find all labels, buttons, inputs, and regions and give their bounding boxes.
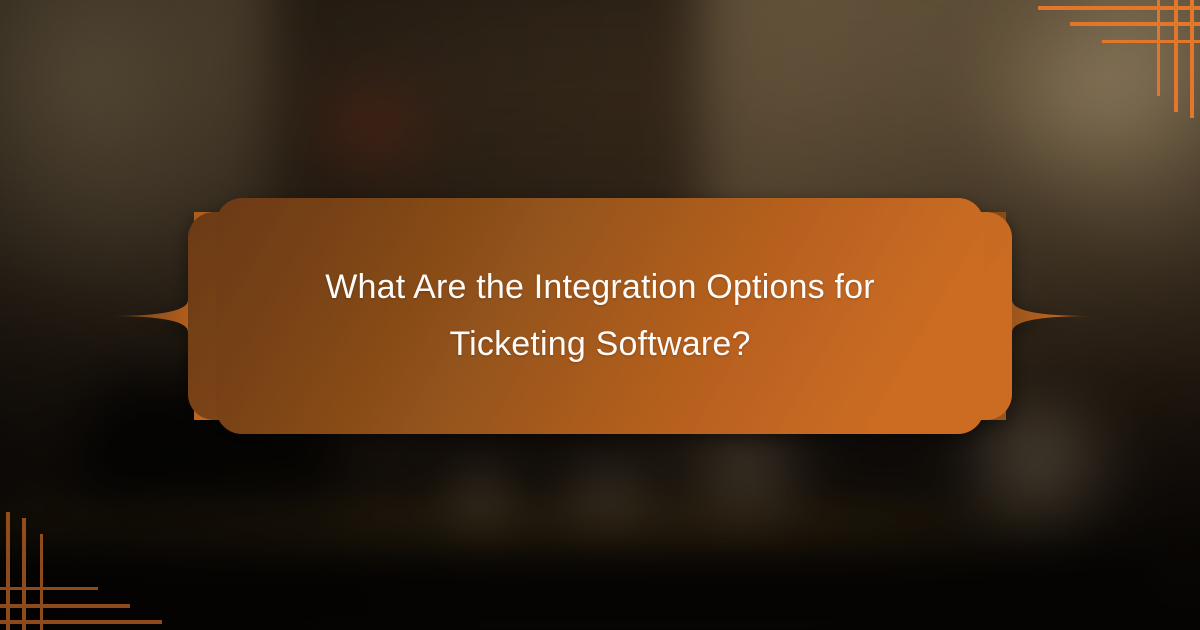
background-warm-glow bbox=[960, 0, 1200, 200]
social-card-canvas: What Are the Integration Options for Tic… bbox=[0, 0, 1200, 630]
headline-line-1: What Are the Integration Options for bbox=[325, 260, 875, 315]
background-table-edge bbox=[0, 518, 1160, 534]
headline-block: What Are the Integration Options for Tic… bbox=[106, 196, 1094, 436]
headline-badge: What Are the Integration Options for Tic… bbox=[106, 196, 1094, 436]
background-floor bbox=[0, 534, 1140, 594]
background-red-accent bbox=[295, 70, 445, 180]
headline-line-2: Ticketing Software? bbox=[449, 317, 750, 372]
background-highlight-two bbox=[550, 460, 660, 524]
